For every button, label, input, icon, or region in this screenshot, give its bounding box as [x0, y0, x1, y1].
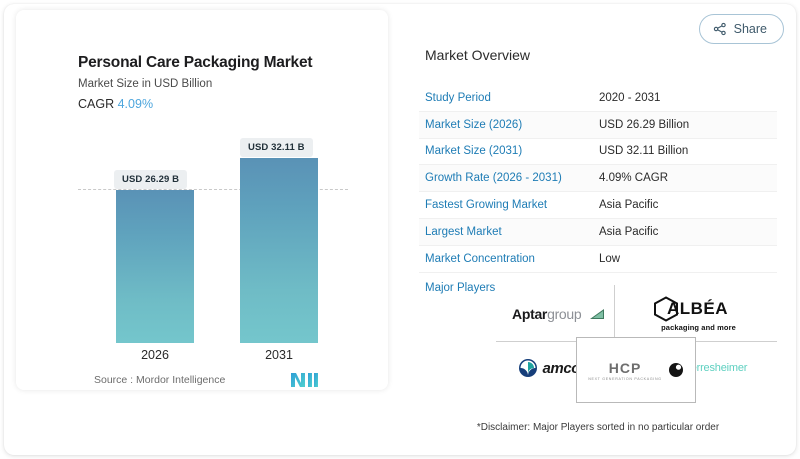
bar-label-2026: USD 26.29 B	[114, 170, 187, 189]
row-value: Asia Pacific	[599, 226, 658, 238]
logo-hcp: HCP NEXT GENERATION PACKAGING	[576, 337, 696, 403]
albea-wordmark: ALBÉA	[667, 299, 728, 319]
bar-label-2031: USD 32.11 B	[240, 138, 313, 157]
row-key: Largest Market	[425, 226, 599, 238]
market-summary-card: Personal Care Packaging Market Market Si…	[0, 0, 800, 459]
row-value: USD 26.29 Billion	[599, 119, 689, 131]
source-text: Source : Mordor Intelligence	[94, 374, 225, 386]
aptar-light-text: group	[547, 306, 581, 322]
hcp-tagline: NEXT GENERATION PACKAGING	[588, 377, 662, 381]
row-key: Market Size (2031)	[425, 145, 599, 157]
albea-tagline: packaging and more	[661, 323, 736, 332]
aptar-bold-text: Aptar	[512, 306, 547, 322]
amcor-swirl-icon	[518, 358, 538, 378]
table-row: Largest Market Asia Pacific	[419, 219, 777, 246]
grid-vertical-divider	[614, 285, 615, 341]
chart-subtitle: Market Size in USD Billion	[78, 78, 212, 90]
row-key: Study Period	[425, 92, 599, 104]
x-axis-tick-2026: 2026	[115, 348, 195, 362]
mordor-intelligence-logo	[291, 372, 321, 388]
row-value: USD 32.11 Billion	[599, 145, 688, 157]
table-row: Study Period 2020 - 2031	[419, 85, 777, 112]
row-value: Asia Pacific	[599, 199, 658, 211]
row-key: Market Concentration	[425, 253, 599, 265]
hcp-wordmark: HCP	[588, 360, 662, 376]
share-icon	[713, 22, 727, 36]
market-overview-title: Market Overview	[425, 47, 530, 63]
bar-2031	[240, 158, 318, 343]
chart-title: Personal Care Packaging Market	[78, 54, 312, 72]
row-key: Market Size (2026)	[425, 119, 599, 131]
table-row: Market Size (2031) USD 32.11 Billion	[419, 139, 777, 166]
row-value: 2020 - 2031	[599, 92, 660, 104]
cagr-value: 4.09%	[118, 97, 153, 111]
market-overview-table: Study Period 2020 - 2031 Market Size (20…	[419, 85, 777, 303]
share-button-label: Share	[734, 22, 767, 36]
logo-aptargroup: Aptargroup	[502, 293, 614, 335]
logo-albea: ALBÉA packaging and more	[618, 291, 763, 337]
aptar-triangle-icon	[588, 309, 604, 320]
bar-2026	[116, 190, 194, 343]
table-row: Market Size (2026) USD 26.29 Billion	[419, 112, 777, 139]
cagr-label: CAGR	[78, 97, 114, 111]
share-button[interactable]: Share	[699, 14, 784, 44]
chart-cagr: CAGR 4.09%	[78, 97, 153, 111]
table-row: Fastest Growing Market Asia Pacific	[419, 192, 777, 219]
table-row: Market Concentration Low	[419, 246, 777, 273]
chart-panel: Personal Care Packaging Market Market Si…	[16, 10, 388, 390]
row-key: Fastest Growing Market	[425, 199, 599, 211]
disclaimer-text: *Disclaimer: Major Players sorted in no …	[419, 422, 777, 433]
row-value: 4.09% CAGR	[599, 172, 668, 184]
x-axis-tick-2031: 2031	[239, 348, 319, 362]
hcp-moon-icon	[668, 362, 684, 378]
row-key: Growth Rate (2026 - 2031)	[425, 172, 599, 184]
major-players-logo-grid: Aptargroup ALBÉA packaging and more	[496, 285, 777, 403]
table-row: Growth Rate (2026 - 2031) 4.09% CAGR	[419, 165, 777, 192]
row-value: Low	[599, 253, 620, 265]
